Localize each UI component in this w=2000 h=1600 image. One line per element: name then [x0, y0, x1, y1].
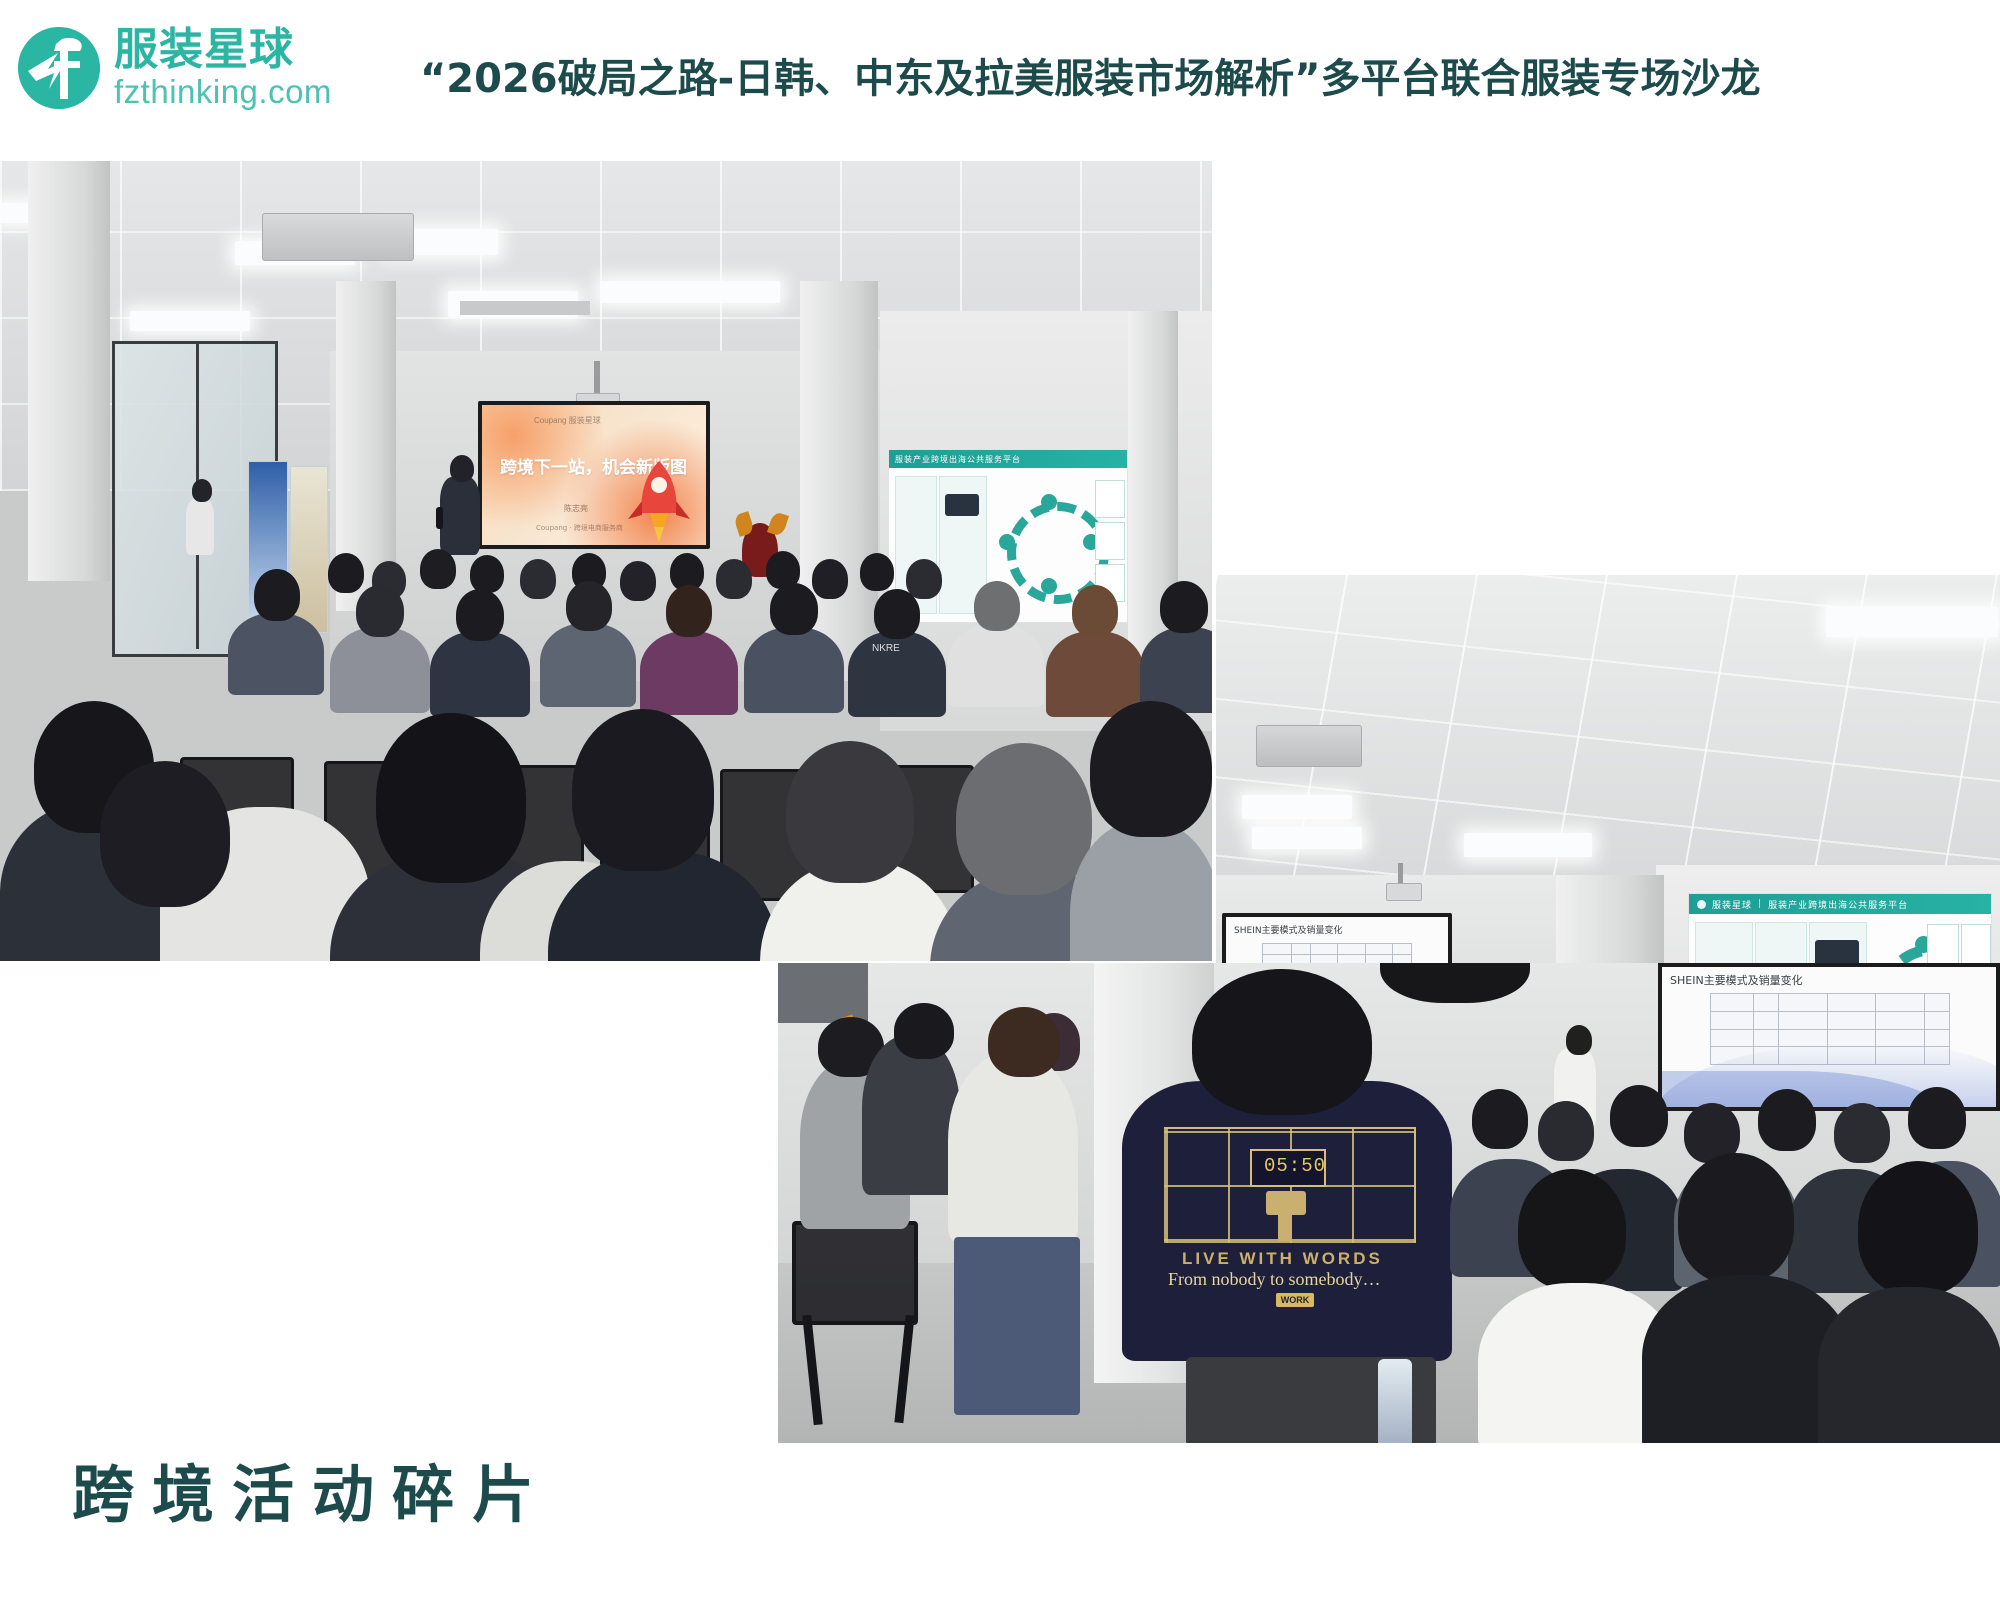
- audience-head: [860, 553, 894, 591]
- photo-seminar-room-wide-shot: Coupang 服装星球 跨境下一站，机会新版图 陈志亮 Coupang · 跨…: [0, 161, 1212, 961]
- audience-head: [254, 569, 300, 621]
- projection-screen: Coupang 服装星球 跨境下一站，机会新版图 陈志亮 Coupang · 跨…: [478, 401, 710, 549]
- attendee-standing: [186, 499, 214, 555]
- brand-logo: 服装星球 fzthinking.com: [18, 14, 378, 122]
- slide-title: SHEIN主要模式及销量变化: [1670, 972, 1803, 988]
- ceiling-beam: [778, 963, 868, 1023]
- foreground-man-head: [1192, 969, 1372, 1115]
- audience-head: [874, 589, 920, 639]
- brand-domain: fzthinking.com: [114, 75, 332, 108]
- banner-node: [999, 534, 1015, 550]
- wall-banner-brand: 服装星球: [1712, 898, 1752, 911]
- tshirt-print-tripod: [1278, 1215, 1292, 1241]
- projector: [1386, 883, 1422, 901]
- wall-banner-title: 服装产业跨境出海公共服务平台: [889, 450, 1127, 468]
- slide-speaker-name: 陈志亮: [564, 503, 588, 514]
- attendee-head: [894, 1003, 954, 1059]
- audience-head: [906, 559, 942, 599]
- audience-head: [812, 559, 848, 599]
- audience-head: [328, 553, 364, 593]
- speaker-presenter: [440, 477, 480, 555]
- audience-head: [1908, 1087, 1966, 1149]
- wall-banner-title: 服装星球 | 服装产业跨境出海公共服务平台: [1689, 894, 1991, 914]
- speaker-head: [1566, 1025, 1592, 1055]
- tshirt-text: NKRE: [872, 643, 900, 654]
- audience-head: [1160, 581, 1208, 633]
- slide-sponsor-logos: Coupang 服装星球: [534, 415, 601, 426]
- tshirt-print-line-2: From nobody to somebody…: [1168, 1269, 1381, 1290]
- ceiling-light: [130, 311, 250, 331]
- audience-torso: [330, 627, 430, 713]
- audience-torso: [640, 631, 738, 715]
- audience-head-foreground: [1678, 1153, 1794, 1283]
- audience-head: [1758, 1089, 1816, 1151]
- fzthinking-zf-circle-logo-icon: [18, 27, 100, 109]
- slide-canvas: SHEIN主要模式及销量变化: [1662, 967, 1996, 1107]
- attendee-head: [192, 479, 212, 502]
- ac-vent: [1256, 725, 1362, 767]
- speaker-head: [450, 455, 474, 482]
- banner-device-image: [945, 494, 979, 516]
- ceiling-light: [1464, 833, 1592, 857]
- attendee-standing: [862, 1035, 960, 1195]
- brand-wordmark: 服装星球 fzthinking.com: [114, 28, 332, 108]
- banner-node: [1041, 578, 1057, 594]
- microphone: [436, 507, 443, 529]
- folding-chair: [792, 1221, 918, 1325]
- tshirt-print-camera: [1266, 1191, 1306, 1215]
- banner-card: [1961, 924, 1991, 964]
- audience-torso-foreground: [1818, 1287, 2000, 1443]
- section-caption: 跨境活动碎片: [72, 1444, 552, 1534]
- audience-head: [666, 585, 712, 637]
- pillar: [28, 161, 110, 581]
- audience-torso: [744, 627, 844, 713]
- rocket-illustration-icon: [622, 457, 696, 545]
- brand-name-cn: 服装星球: [114, 28, 332, 72]
- audience-head: [974, 581, 1020, 631]
- audience-head-foreground: [572, 709, 714, 871]
- audience-head-foreground: [376, 713, 526, 883]
- audience-head: [420, 549, 456, 589]
- audience-torso: [430, 631, 530, 717]
- audience-head: [470, 555, 504, 593]
- audience-head: [1072, 585, 1118, 637]
- wall-banner-text: 服装产业跨境出海公共服务平台: [1768, 898, 1908, 911]
- audience-head: [716, 559, 752, 599]
- page-header: 服装星球 fzthinking.com “2026破局之路-日韩、中东及拉美服装…: [0, 0, 2000, 150]
- audience-head-foreground: [1858, 1161, 1978, 1295]
- slide-canvas: Coupang 服装星球 跨境下一站，机会新版图 陈志亮 Coupang · 跨…: [482, 405, 706, 545]
- audience-head: [1472, 1089, 1528, 1149]
- audience-head: [456, 589, 504, 641]
- audience-torso: [948, 623, 1044, 707]
- audience-torso-foreground: [1070, 821, 1212, 961]
- tshirt-print-badge: WORK: [1276, 1293, 1314, 1307]
- banner-card: [1095, 522, 1125, 560]
- audience-head-foreground: [786, 741, 914, 883]
- tshirt-print-line-1: LIVE WITH WORDS: [1182, 1249, 1383, 1269]
- audience-head: [1834, 1103, 1890, 1163]
- audience-head: [566, 581, 612, 631]
- projector-mount: [1398, 863, 1403, 885]
- attendee-head: [988, 1007, 1060, 1077]
- ceiling-light: [600, 281, 780, 303]
- ac-vent: [460, 301, 590, 315]
- banner-card: [1095, 480, 1125, 518]
- audience-head: [356, 585, 404, 637]
- banner-card: [1927, 924, 1959, 964]
- photo-seminar-room-standing-audience: SHEIN主要模式及销量变化: [778, 963, 2000, 1443]
- audience-head-foreground: [1090, 701, 1212, 837]
- ac-vent: [262, 213, 414, 261]
- ceiling-light: [1252, 827, 1362, 849]
- ceiling-light: [1242, 795, 1352, 819]
- attendee-standing: [948, 1053, 1078, 1243]
- audience-head-foreground: [100, 761, 230, 907]
- water-bottle: [1378, 1359, 1412, 1443]
- ceiling-light: [1826, 607, 1998, 637]
- audience-head-foreground: [1518, 1169, 1626, 1289]
- projector-mount: [594, 361, 600, 397]
- banner-node: [1041, 494, 1057, 510]
- audience-head: [520, 559, 556, 599]
- slide-footer: Coupang · 跨境电商服务商: [536, 523, 623, 533]
- jeans: [954, 1237, 1080, 1415]
- banner-logo-icon: [1697, 900, 1706, 909]
- audience-head: [620, 561, 656, 601]
- audience-head-foreground: [956, 743, 1092, 895]
- tshirt-print-digits: 05:50: [1264, 1155, 1326, 1177]
- audience-head: [1610, 1085, 1668, 1147]
- audience-torso: [540, 623, 636, 707]
- audience-head: [770, 583, 818, 635]
- slide-title: SHEIN主要模式及销量变化: [1234, 923, 1343, 936]
- audience-torso: [228, 613, 324, 695]
- audience-head: [1538, 1101, 1594, 1161]
- page-title: “2026破局之路-日韩、中东及拉美服装市场解析”多平台联合服装专场沙龙: [420, 46, 1980, 104]
